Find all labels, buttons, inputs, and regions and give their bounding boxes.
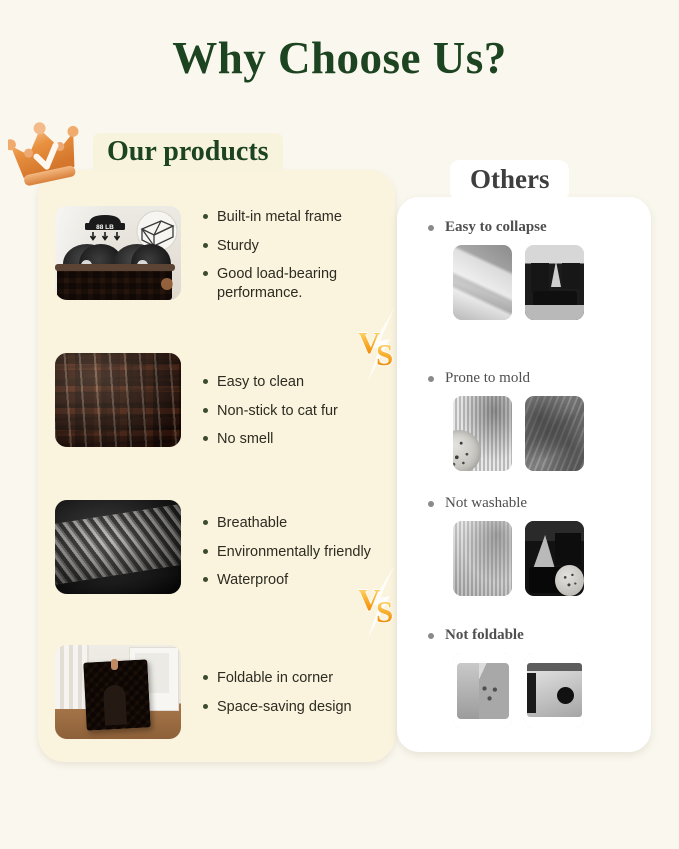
bullet-text: Foldable in corner — [217, 669, 333, 688]
bullet-dot — [203, 549, 208, 554]
crown-icon — [8, 118, 90, 190]
mold-stained-surface-photo — [525, 396, 584, 471]
bullet-text: Easy to clean — [217, 373, 304, 392]
bullet-dot — [203, 675, 208, 680]
other-thumbs — [453, 396, 597, 471]
bullet-dot — [428, 501, 434, 507]
other-group-label: Easy to collapse — [445, 219, 547, 236]
list-item: No smell — [203, 430, 338, 449]
other-thumbs — [453, 521, 597, 596]
other-group-heading: Not foldable — [428, 627, 597, 644]
list-item: Non-stick to cat fur — [203, 402, 338, 421]
list-item: Foldable in corner — [203, 669, 352, 688]
other-group: Not foldable — [428, 627, 597, 728]
dumbbells-in-basket-photo: 88 LB — [55, 206, 181, 300]
bullet-dot — [203, 271, 208, 276]
list-item: Waterproof — [203, 571, 371, 590]
page-title: Why Choose Us? — [0, 36, 679, 81]
bullet-dot — [428, 633, 434, 639]
other-thumbs — [453, 653, 597, 728]
other-thumbs — [453, 245, 597, 320]
bullet-text: Waterproof — [217, 571, 288, 590]
vs-label-s: S — [376, 594, 393, 629]
feature-bullets: Easy to clean Non-stick to cat fur No sm… — [203, 353, 338, 459]
list-item: Environmentally friendly — [203, 543, 371, 562]
bullet-text: Environmentally friendly — [217, 543, 371, 562]
others-label: Others — [450, 160, 569, 201]
list-item: Breathable — [203, 514, 371, 533]
bullet-dot — [203, 577, 208, 582]
bullet-text: Sturdy — [217, 237, 259, 256]
list-item: Space-saving design — [203, 698, 352, 717]
bullet-text: Space-saving design — [217, 698, 352, 717]
other-group-label: Not washable — [445, 495, 527, 512]
vs-label-s: S — [376, 337, 393, 372]
feature-row: Easy to clean Non-stick to cat fur No sm… — [55, 353, 338, 459]
other-group-heading: Easy to collapse — [428, 219, 597, 236]
bullet-text: Non-stick to cat fur — [217, 402, 338, 421]
collapsed-fabric-cover-photo — [453, 245, 512, 320]
feature-row: 88 LB Built-in metal frame Sturdy Good l… — [55, 206, 383, 312]
rigid-grey-box-photo — [453, 653, 512, 728]
bullet-dot — [203, 379, 208, 384]
folded-litter-box-photo — [55, 645, 181, 739]
bullet-dot — [203, 704, 208, 709]
dirty-dark-interior-photo — [525, 521, 584, 596]
bullet-dot — [203, 520, 208, 525]
svg-text:88 LB: 88 LB — [96, 224, 114, 231]
other-group-label: Not foldable — [445, 627, 524, 644]
feature-row: Foldable in corner Space-saving design — [55, 645, 352, 739]
our-products-label: Our products — [93, 133, 283, 173]
bullet-text: Breathable — [217, 514, 287, 533]
bullet-text: Built-in metal frame — [217, 208, 342, 227]
other-group-heading: Not washable — [428, 495, 597, 512]
bullet-text: Good load-bearing performance. — [217, 265, 383, 302]
bullet-dot — [428, 225, 434, 231]
bullet-dot — [203, 436, 208, 441]
stained-fabric-liner-photo — [453, 521, 512, 596]
vs-badge-top: V S — [350, 309, 408, 381]
rigid-metal-box-photo — [525, 653, 584, 728]
bullet-text: No smell — [217, 430, 273, 449]
feature-bullets: Built-in metal frame Sturdy Good load-be… — [203, 206, 383, 312]
other-group-heading: Prone to mold — [428, 370, 597, 387]
feature-bullets: Foldable in corner Space-saving design — [203, 645, 352, 726]
feature-bullets: Breathable Environmentally friendly Wate… — [203, 500, 371, 600]
bullet-dot — [203, 408, 208, 413]
list-item: Good load-bearing performance. — [203, 265, 383, 302]
bullet-dot — [203, 214, 208, 219]
bullet-dot — [428, 376, 434, 382]
vs-badge-bottom: V S — [350, 566, 408, 638]
other-group: Prone to mold — [428, 370, 597, 471]
bullet-dot — [203, 243, 208, 248]
list-item: Sturdy — [203, 237, 383, 256]
list-item: Built-in metal frame — [203, 208, 383, 227]
woven-rattan-texture-photo — [55, 353, 181, 447]
other-group-label: Prone to mold — [445, 370, 530, 387]
collapsed-dark-tent-photo — [525, 245, 584, 320]
list-item: Easy to clean — [203, 373, 338, 392]
other-group: Easy to collapse — [428, 219, 597, 320]
breathable-mesh-panel-photo — [55, 500, 181, 594]
moldy-fabric-closeup-photo — [453, 396, 512, 471]
feature-row: Breathable Environmentally friendly Wate… — [55, 500, 371, 600]
other-group: Not washable — [428, 495, 597, 596]
